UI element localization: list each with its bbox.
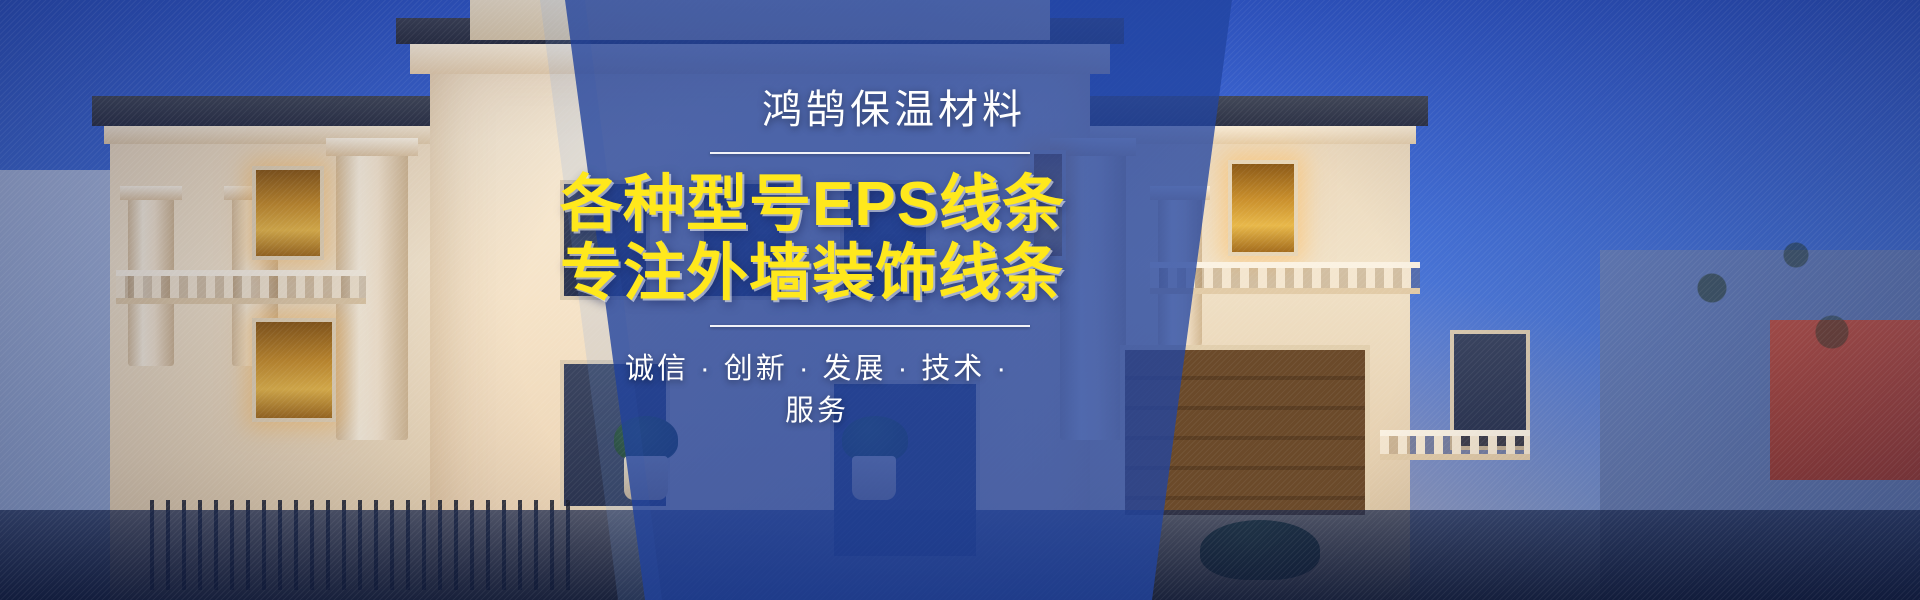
headline: 各种型号EPS线条 专注外墙装饰线条 xyxy=(560,170,1030,309)
headline-line-2: 专注外墙装饰线条 xyxy=(560,239,1030,308)
text-column: 鸿鹄保温材料 各种型号EPS线条 专注外墙装饰线条 诚信 · 创新 · 发展 ·… xyxy=(560,86,1030,429)
company-name: 鸿鹄保温材料 xyxy=(560,86,1030,134)
divider-bottom xyxy=(710,325,1030,327)
headline-line-1: 各种型号EPS线条 xyxy=(560,170,1065,239)
tagline: 诚信 · 创新 · 发展 · 技术 · 服务 xyxy=(560,345,1030,429)
divider-top xyxy=(710,152,1030,154)
hero-banner: 鸿鹄保温材料 各种型号EPS线条 专注外墙装饰线条 诚信 · 创新 · 发展 ·… xyxy=(0,0,1920,600)
